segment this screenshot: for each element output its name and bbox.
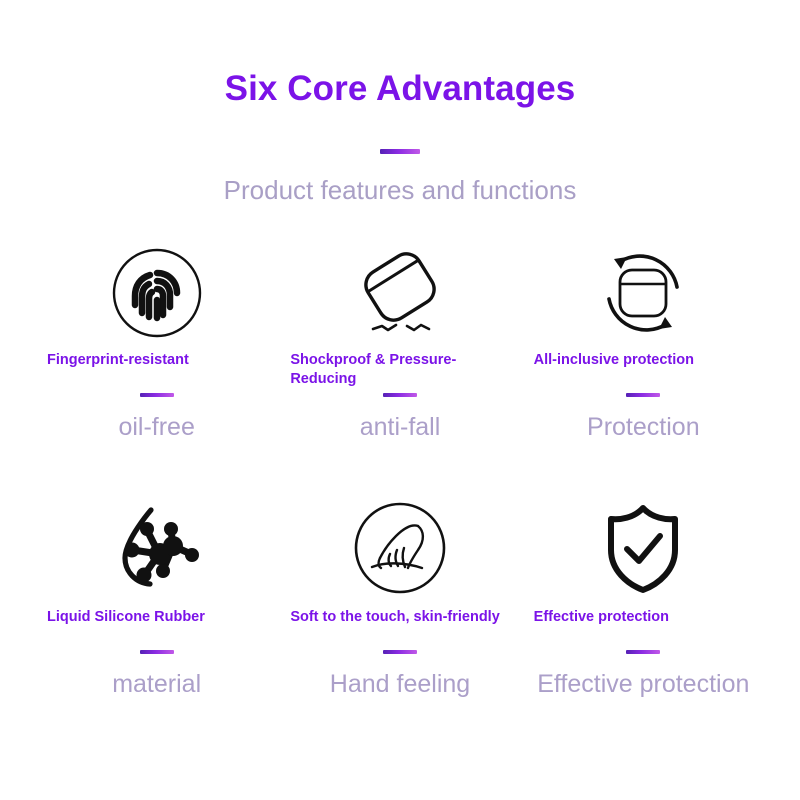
all-around-protection-icon [534,243,753,343]
feature-subtitle: Protection [587,413,700,442]
gradient-divider [380,149,420,154]
feature-subtitle: oil-free [118,413,194,442]
feature-card-soft-touch: Soft to the touch, skin-friendly Hand fe… [278,498,521,753]
feature-subtitle: Effective protection [537,670,749,699]
feature-card-shockproof: Shockproof & Pressure-Reducing anti-fall [278,243,521,498]
feature-title: Liquid Silicone Rubber [47,608,266,646]
drop-impact-icon [290,243,509,343]
fingerprint-icon [47,243,266,343]
page-title: Six Core Advantages [0,70,800,109]
feature-card-liquid-silicone: Liquid Silicone Rubber material [35,498,278,753]
feature-card-fingerprint: Fingerprint-resistant oil-free [35,243,278,498]
card-gradient-divider [140,650,174,654]
feature-title: All-inclusive protection [534,351,753,389]
liquid-silicone-molecule-icon [47,498,266,598]
feature-title: Fingerprint-resistant [47,351,266,389]
header: Six Core Advantages Product features and… [0,0,800,205]
card-gradient-divider [383,393,417,397]
feature-subtitle: material [112,670,201,699]
feature-card-all-inclusive: All-inclusive protection Protection [522,243,765,498]
card-gradient-divider [383,650,417,654]
features-grid: Fingerprint-resistant oil-free Shockp [35,243,765,753]
shield-check-icon [534,498,753,598]
card-gradient-divider [626,393,660,397]
card-gradient-divider [140,393,174,397]
card-gradient-divider [626,650,660,654]
feature-title: Effective protection [534,608,753,646]
feature-subtitle: anti-fall [360,413,441,442]
infographic-page: Six Core Advantages Product features and… [0,0,800,800]
hand-touch-icon [290,498,509,598]
feature-title: Soft to the touch, skin-friendly [290,608,509,646]
feature-subtitle: Hand feeling [330,670,470,699]
page-subtitle: Product features and functions [0,176,800,206]
feature-card-effective-protection: Effective protection Effective protectio… [522,498,765,753]
feature-title: Shockproof & Pressure-Reducing [290,351,509,389]
